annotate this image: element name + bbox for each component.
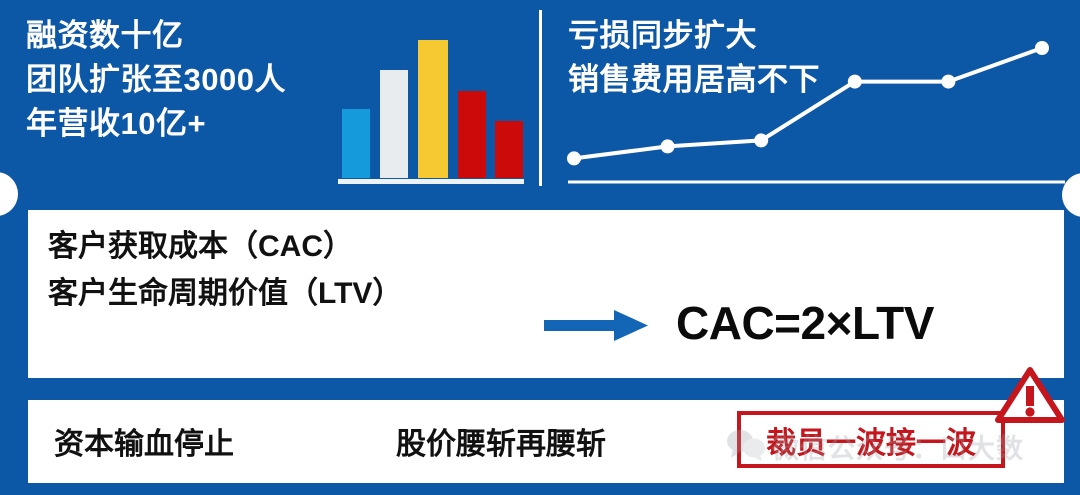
infographic-canvas: 融资数十亿 团队扩张至3000人 年营收10亿+ 亏损同步扩大 销售费用居高不下… [0,0,1080,495]
line-chart-point-1 [567,151,581,165]
warning-triangle-icon [995,366,1065,424]
layoff-alert-text: 裁员一波接一波 [744,418,998,462]
line-chart-point-3 [754,133,768,147]
bar-4 [458,91,486,178]
consequences-panel: 资本输血停止 股价腰斩再腰斩 裁员一波接一波 [28,400,1064,483]
cac-label: 客户获取成本（CAC） [48,224,402,271]
top-left-headline: 融资数十亿 团队扩张至3000人 年营收10亿+ [26,14,356,146]
ltv-label: 客户生命周期价值（LTV） [48,271,402,318]
cac-formula: CAC=2×LTV [676,296,934,350]
corner-circle-icon-left [0,172,18,216]
bar-1 [342,109,370,178]
line-chart-point-6 [1035,41,1049,55]
consequence-item-1: 资本输血停止 [54,419,234,463]
line-chart [560,18,1070,188]
cac-ltv-panel: 客户获取成本（CAC） 客户生命周期价值（LTV） CAC=2×LTV [28,210,1064,378]
headline-line-2: 团队扩张至3000人 [26,58,356,102]
bar-2 [380,70,408,178]
right-arrow-icon [544,308,650,342]
line-chart-svg [560,18,1070,188]
cac-ltv-labels: 客户获取成本（CAC） 客户生命周期价值（LTV） [48,224,402,317]
bar-5 [495,121,523,178]
headline-line-1: 融资数十亿 [26,14,356,58]
vertical-divider [539,10,542,186]
bar-chart-baseline [338,179,524,184]
consequence-item-2: 股价腰斩再腰斩 [396,419,606,463]
bar-3 [418,40,448,178]
line-chart-point-5 [941,75,955,89]
line-chart-point-2 [661,139,675,153]
headline-line-3: 年营收10亿+ [26,102,356,146]
bar-chart [338,22,528,184]
line-chart-markers [567,41,1049,165]
line-chart-series [574,48,1042,158]
line-chart-point-4 [848,75,862,89]
